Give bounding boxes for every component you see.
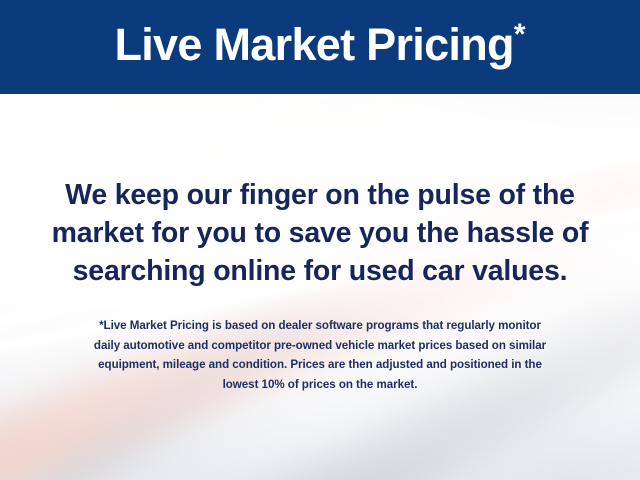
banner-separator-gap — [0, 94, 640, 96]
page-title-text: Live Market Pricing — [114, 19, 513, 70]
headline-line-3: searching online for used car values. — [0, 252, 640, 290]
live-market-pricing-promo-card: Live Market Pricing* We keep our finger … — [0, 0, 640, 480]
footnote-line-1: *Live Market Pricing is based on dealer … — [0, 316, 640, 336]
footnote-line-4: lowest 10% of prices on the market. — [0, 375, 640, 395]
footnote-line-3: equipment, mileage and condition. Prices… — [0, 355, 640, 375]
headline-line-1: We keep our finger on the pulse of the — [0, 176, 640, 214]
headline-line-2: market for you to save you the hassle of — [0, 214, 640, 252]
title-asterisk-marker: * — [514, 18, 526, 51]
headline-text-block: We keep our finger on the pulse of the m… — [0, 176, 640, 290]
footnote-disclaimer-block: *Live Market Pricing is based on dealer … — [0, 316, 640, 394]
footnote-line-2: daily automotive and competitor pre-owne… — [0, 336, 640, 356]
title-banner: Live Market Pricing* — [0, 0, 640, 91]
page-title: Live Market Pricing* — [114, 22, 525, 70]
